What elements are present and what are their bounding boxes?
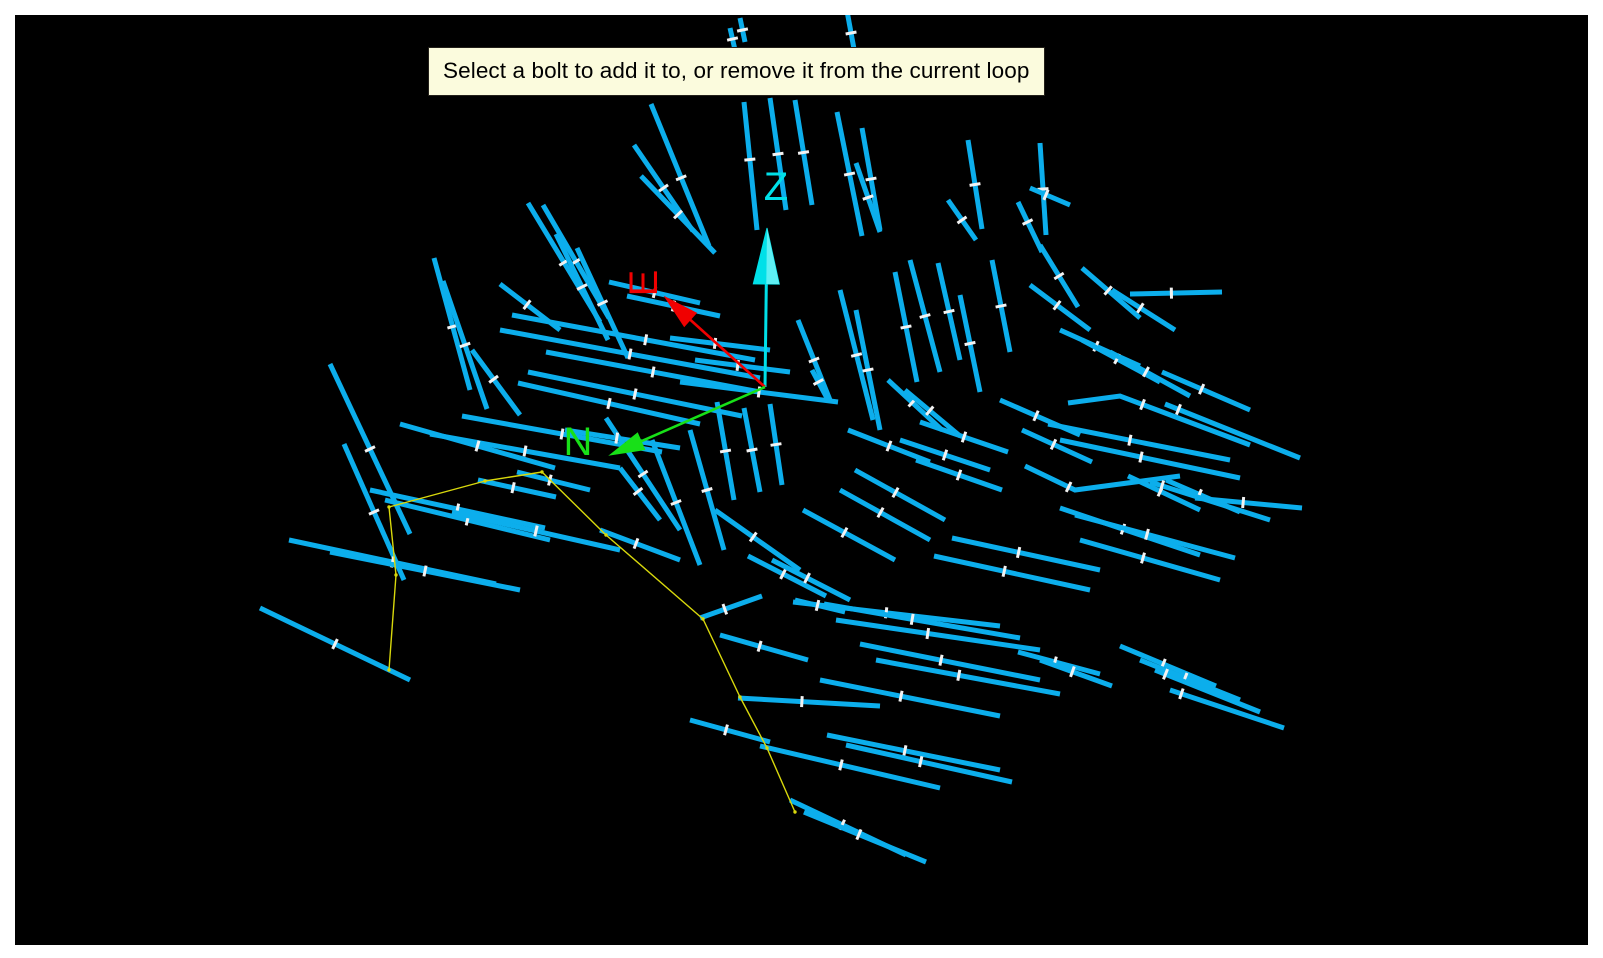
- bolt-segment[interactable]: [500, 284, 560, 330]
- bolt-segment[interactable]: [1150, 481, 1270, 520]
- bolt-segment[interactable]: [855, 470, 945, 520]
- loop-vertex[interactable]: [387, 668, 390, 671]
- bolt-segment[interactable]: [795, 100, 812, 205]
- bolt-segment[interactable]: [738, 696, 880, 707]
- bolt-segment[interactable]: [840, 290, 873, 420]
- bolt-segment[interactable]: [600, 530, 680, 560]
- bolt-segment[interactable]: [770, 404, 782, 485]
- bolt-segment[interactable]: [820, 680, 1000, 716]
- bolt-segment[interactable]: [895, 272, 917, 382]
- bolt-segment[interactable]: [846, 745, 1012, 782]
- bolt-segment[interactable]: [434, 258, 470, 390]
- bolt-segment[interactable]: [700, 596, 762, 618]
- loop-vertex[interactable]: [793, 810, 796, 813]
- loop-vertex[interactable]: [483, 479, 486, 482]
- bolt-segment[interactable]: [888, 380, 942, 430]
- bolt-segment[interactable]: [1140, 660, 1240, 700]
- loop-vertex[interactable]: [701, 617, 704, 620]
- bolt-segment[interactable]: [744, 102, 757, 230]
- bolt-segment[interactable]: [1038, 143, 1049, 235]
- bolt-segment[interactable]: [1030, 285, 1090, 330]
- bolt-segment[interactable]: [827, 735, 1000, 770]
- axis-label-z: Z: [764, 165, 788, 209]
- loop-vertex[interactable]: [387, 505, 390, 508]
- bolt-segment[interactable]: [1130, 288, 1222, 299]
- bolt-segment[interactable]: [744, 408, 760, 492]
- bolt-segment[interactable]: [1040, 660, 1112, 686]
- status-tooltip-text: Select a bolt to add it to, or remove it…: [443, 58, 1030, 83]
- bolt-segment[interactable]: [717, 402, 734, 500]
- application-window: ZEN Select a bolt to add it to, or remov…: [0, 0, 1603, 958]
- bolt-segment[interactable]: [330, 552, 520, 590]
- bolt-segment[interactable]: [690, 430, 724, 550]
- loop-vertex[interactable]: [604, 533, 607, 536]
- bolt-segment[interactable]: [916, 460, 1002, 490]
- bolt-segment[interactable]: [443, 281, 487, 409]
- bolt-segment[interactable]: [968, 140, 982, 229]
- bolt-segment[interactable]: [478, 480, 556, 497]
- bolt-segment[interactable]: [1110, 352, 1190, 396]
- axis-z: Z: [753, 165, 788, 387]
- bolt-segment[interactable]: [651, 104, 709, 246]
- loop-vertex[interactable]: [738, 695, 741, 698]
- bolt-segment[interactable]: [1030, 188, 1070, 205]
- axis-shaft: [765, 284, 766, 387]
- bolt-segment[interactable]: [804, 812, 926, 862]
- bolt-segment[interactable]: [948, 200, 976, 240]
- loop-vertex[interactable]: [540, 470, 543, 473]
- bolt-segment[interactable]: [798, 320, 830, 400]
- bolt-segment[interactable]: [737, 18, 748, 42]
- bolt-segment[interactable]: [992, 260, 1010, 352]
- bolt-3d-viewport[interactable]: ZEN: [15, 15, 1588, 945]
- bolt-segment[interactable]: [905, 390, 960, 436]
- bolt-segment[interactable]: [1018, 652, 1100, 674]
- bolt-segment[interactable]: [641, 176, 715, 253]
- bolt-segment[interactable]: [920, 422, 1008, 452]
- axis-shaft: [690, 320, 765, 387]
- bolt-segment[interactable]: [1162, 372, 1250, 410]
- bolt-segment[interactable]: [577, 248, 628, 358]
- bolts-layer[interactable]: [260, 15, 1302, 862]
- status-tooltip: Select a bolt to add it to, or remove it…: [428, 47, 1045, 96]
- bolt-segment[interactable]: [452, 512, 620, 550]
- axis-label-n: N: [564, 420, 593, 464]
- axis-arrowhead-highlight: [766, 228, 779, 284]
- bolt-segment[interactable]: [938, 263, 960, 360]
- bolt-segment[interactable]: [1068, 396, 1250, 445]
- bolt-segment[interactable]: [1120, 646, 1216, 686]
- bolt-segment[interactable]: [772, 560, 850, 600]
- bolt-segment[interactable]: [840, 490, 930, 540]
- axis-label-e: E: [622, 270, 666, 297]
- bolt-segment[interactable]: [960, 295, 980, 392]
- scene-svg[interactable]: ZEN: [15, 15, 1588, 945]
- bolt-segment[interactable]: [1075, 515, 1235, 558]
- loop-vertex[interactable]: [394, 573, 397, 576]
- loop-vertex[interactable]: [765, 746, 768, 749]
- bolt-segment[interactable]: [910, 260, 940, 372]
- bolt-segment[interactable]: [803, 510, 895, 560]
- bolt-segment[interactable]: [720, 635, 808, 660]
- bolt-segment[interactable]: [862, 128, 880, 230]
- bolt-segment[interactable]: [1018, 202, 1042, 252]
